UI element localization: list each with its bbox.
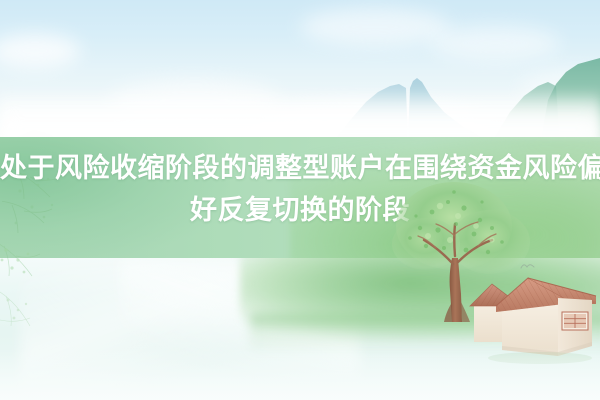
bird-icon [520,262,536,272]
leaf-sprig-icon [0,286,56,346]
cottage [466,272,600,364]
landscape-banner: 处于风险收缩阶段的调整型账户在围绕资金风险偏 好反复切换的阶段 [0,0,600,400]
